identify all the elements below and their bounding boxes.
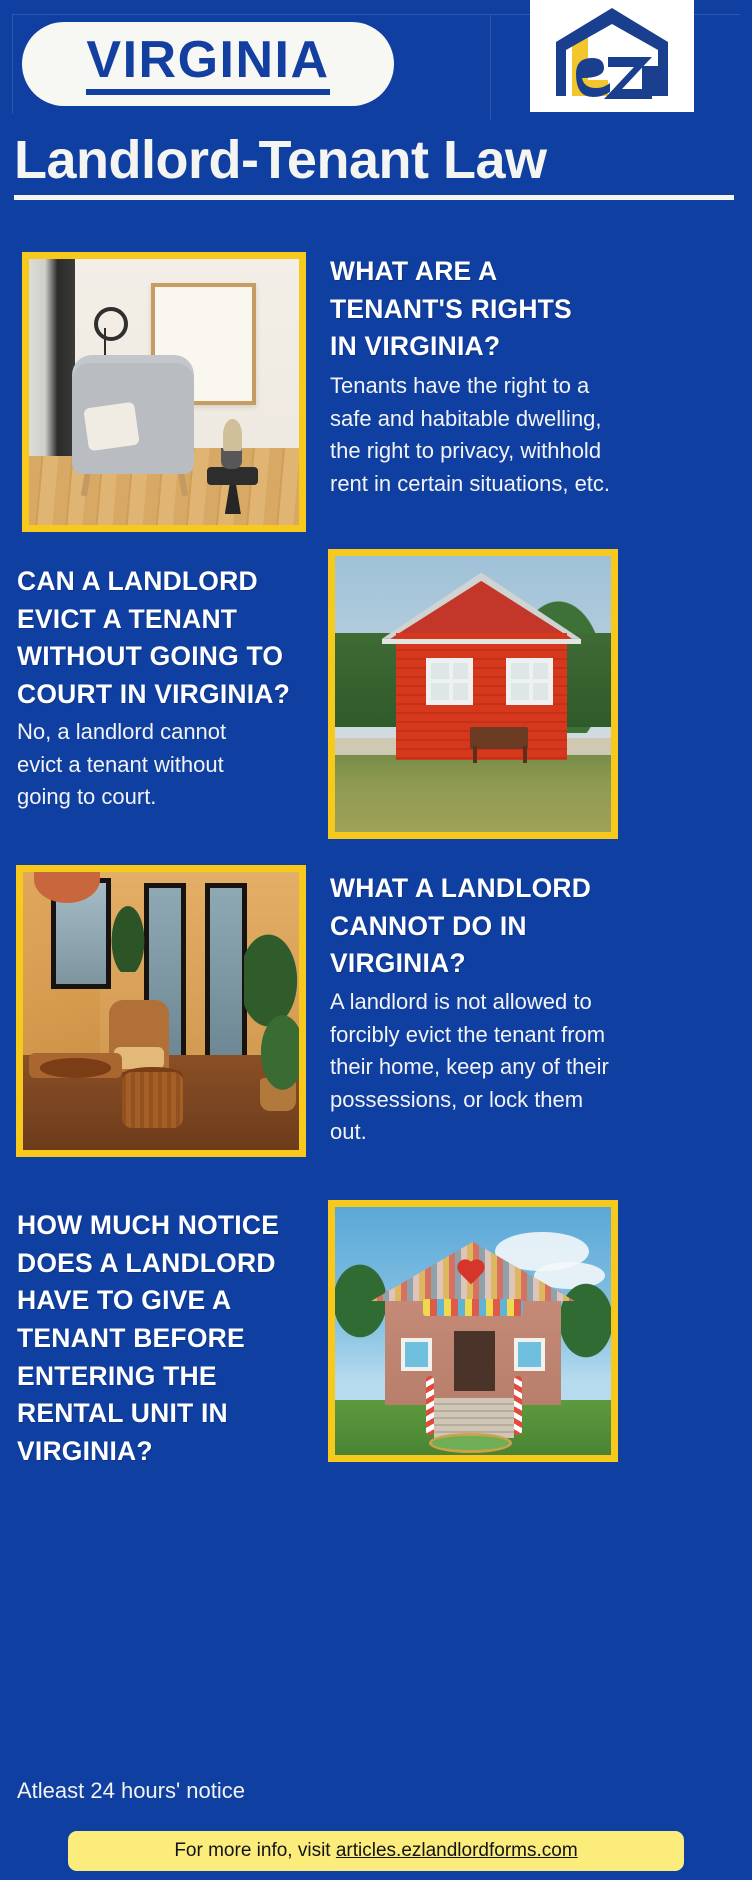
section-2-question: CAN A LANDLORD EVICT A TENANT WITHOUT GO… bbox=[17, 563, 323, 714]
section-2-answer: No, a landlord cannot evict a tenant wit… bbox=[17, 716, 267, 814]
section-4-question: HOW MUCH NOTICE DOES A LANDLORD HAVE TO … bbox=[17, 1207, 317, 1470]
footer-cta[interactable]: For more info, visit articles.ezlandlord… bbox=[68, 1831, 684, 1871]
section-2-image bbox=[328, 549, 618, 839]
section-4-image bbox=[328, 1200, 618, 1462]
state-badge: VIRGINIA bbox=[22, 22, 394, 106]
living-room-photo bbox=[29, 259, 299, 525]
footer-prefix: For more info, visit bbox=[174, 1840, 336, 1861]
gingerbread-house-photo bbox=[335, 1207, 611, 1455]
ez-house-logo-icon bbox=[530, 0, 694, 112]
header-divider-left bbox=[12, 14, 13, 114]
footer-text: For more info, visit articles.ezlandlord… bbox=[174, 1840, 577, 1862]
header: VIRGINIA Landlord-Tenant Law bbox=[0, 0, 752, 232]
header-divider-right bbox=[490, 14, 491, 120]
section-3-image bbox=[16, 865, 306, 1157]
section-1-question: WHAT ARE A TENANT'S RIGHTS IN VIRGINIA? bbox=[330, 253, 602, 366]
brand-logo bbox=[530, 0, 694, 112]
infographic-page: VIRGINIA Landlord-Tenant Law bbox=[0, 0, 752, 1880]
footer-url[interactable]: articles.ezlandlordforms.com bbox=[336, 1840, 578, 1861]
state-label: VIRGINIA bbox=[86, 34, 329, 95]
section-4-answer: Atleast 24 hours' notice bbox=[17, 1775, 317, 1808]
page-title: Landlord-Tenant Law bbox=[14, 132, 734, 200]
section-1-image bbox=[22, 252, 306, 532]
section-1-answer: Tenants have the right to a safe and hab… bbox=[330, 370, 612, 500]
rattan-interior-photo bbox=[23, 872, 299, 1150]
section-3-question: WHAT A LANDLORD CANNOT DO IN VIRGINIA? bbox=[330, 870, 614, 983]
red-cottage-photo bbox=[335, 556, 611, 832]
section-3-answer: A landlord is not allowed to forcibly ev… bbox=[330, 986, 616, 1149]
